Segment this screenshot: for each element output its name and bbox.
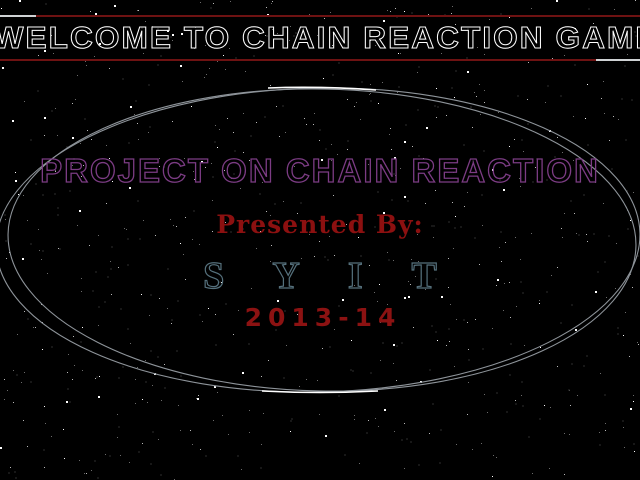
header-rule-bottom <box>0 59 640 61</box>
ellipse-highlight-top <box>268 87 376 90</box>
header-rule-top-highlight <box>0 15 36 17</box>
year-range: 2013-14 <box>0 303 640 332</box>
presented-by-label: Presented By: <box>0 210 640 239</box>
header-rule-top <box>0 15 640 17</box>
team-name: S Y I T <box>0 254 640 298</box>
ellipse-inner <box>5 83 639 397</box>
welcome-title: WELCOME TO CHAIN REACTION GAME <box>0 20 640 56</box>
starfield-background <box>0 0 640 480</box>
header-banner: WELCOME TO CHAIN REACTION GAME <box>0 0 640 66</box>
project-title: PROJECT ON CHAIN REACTION <box>0 152 640 190</box>
ellipse-outer <box>0 81 640 398</box>
ellipse-highlight-bottom <box>262 391 378 393</box>
decorative-ellipses <box>0 0 640 480</box>
splash-screen: WELCOME TO CHAIN REACTION GAME PROJECT O… <box>0 0 640 480</box>
header-rule-bottom-highlight <box>596 59 640 61</box>
